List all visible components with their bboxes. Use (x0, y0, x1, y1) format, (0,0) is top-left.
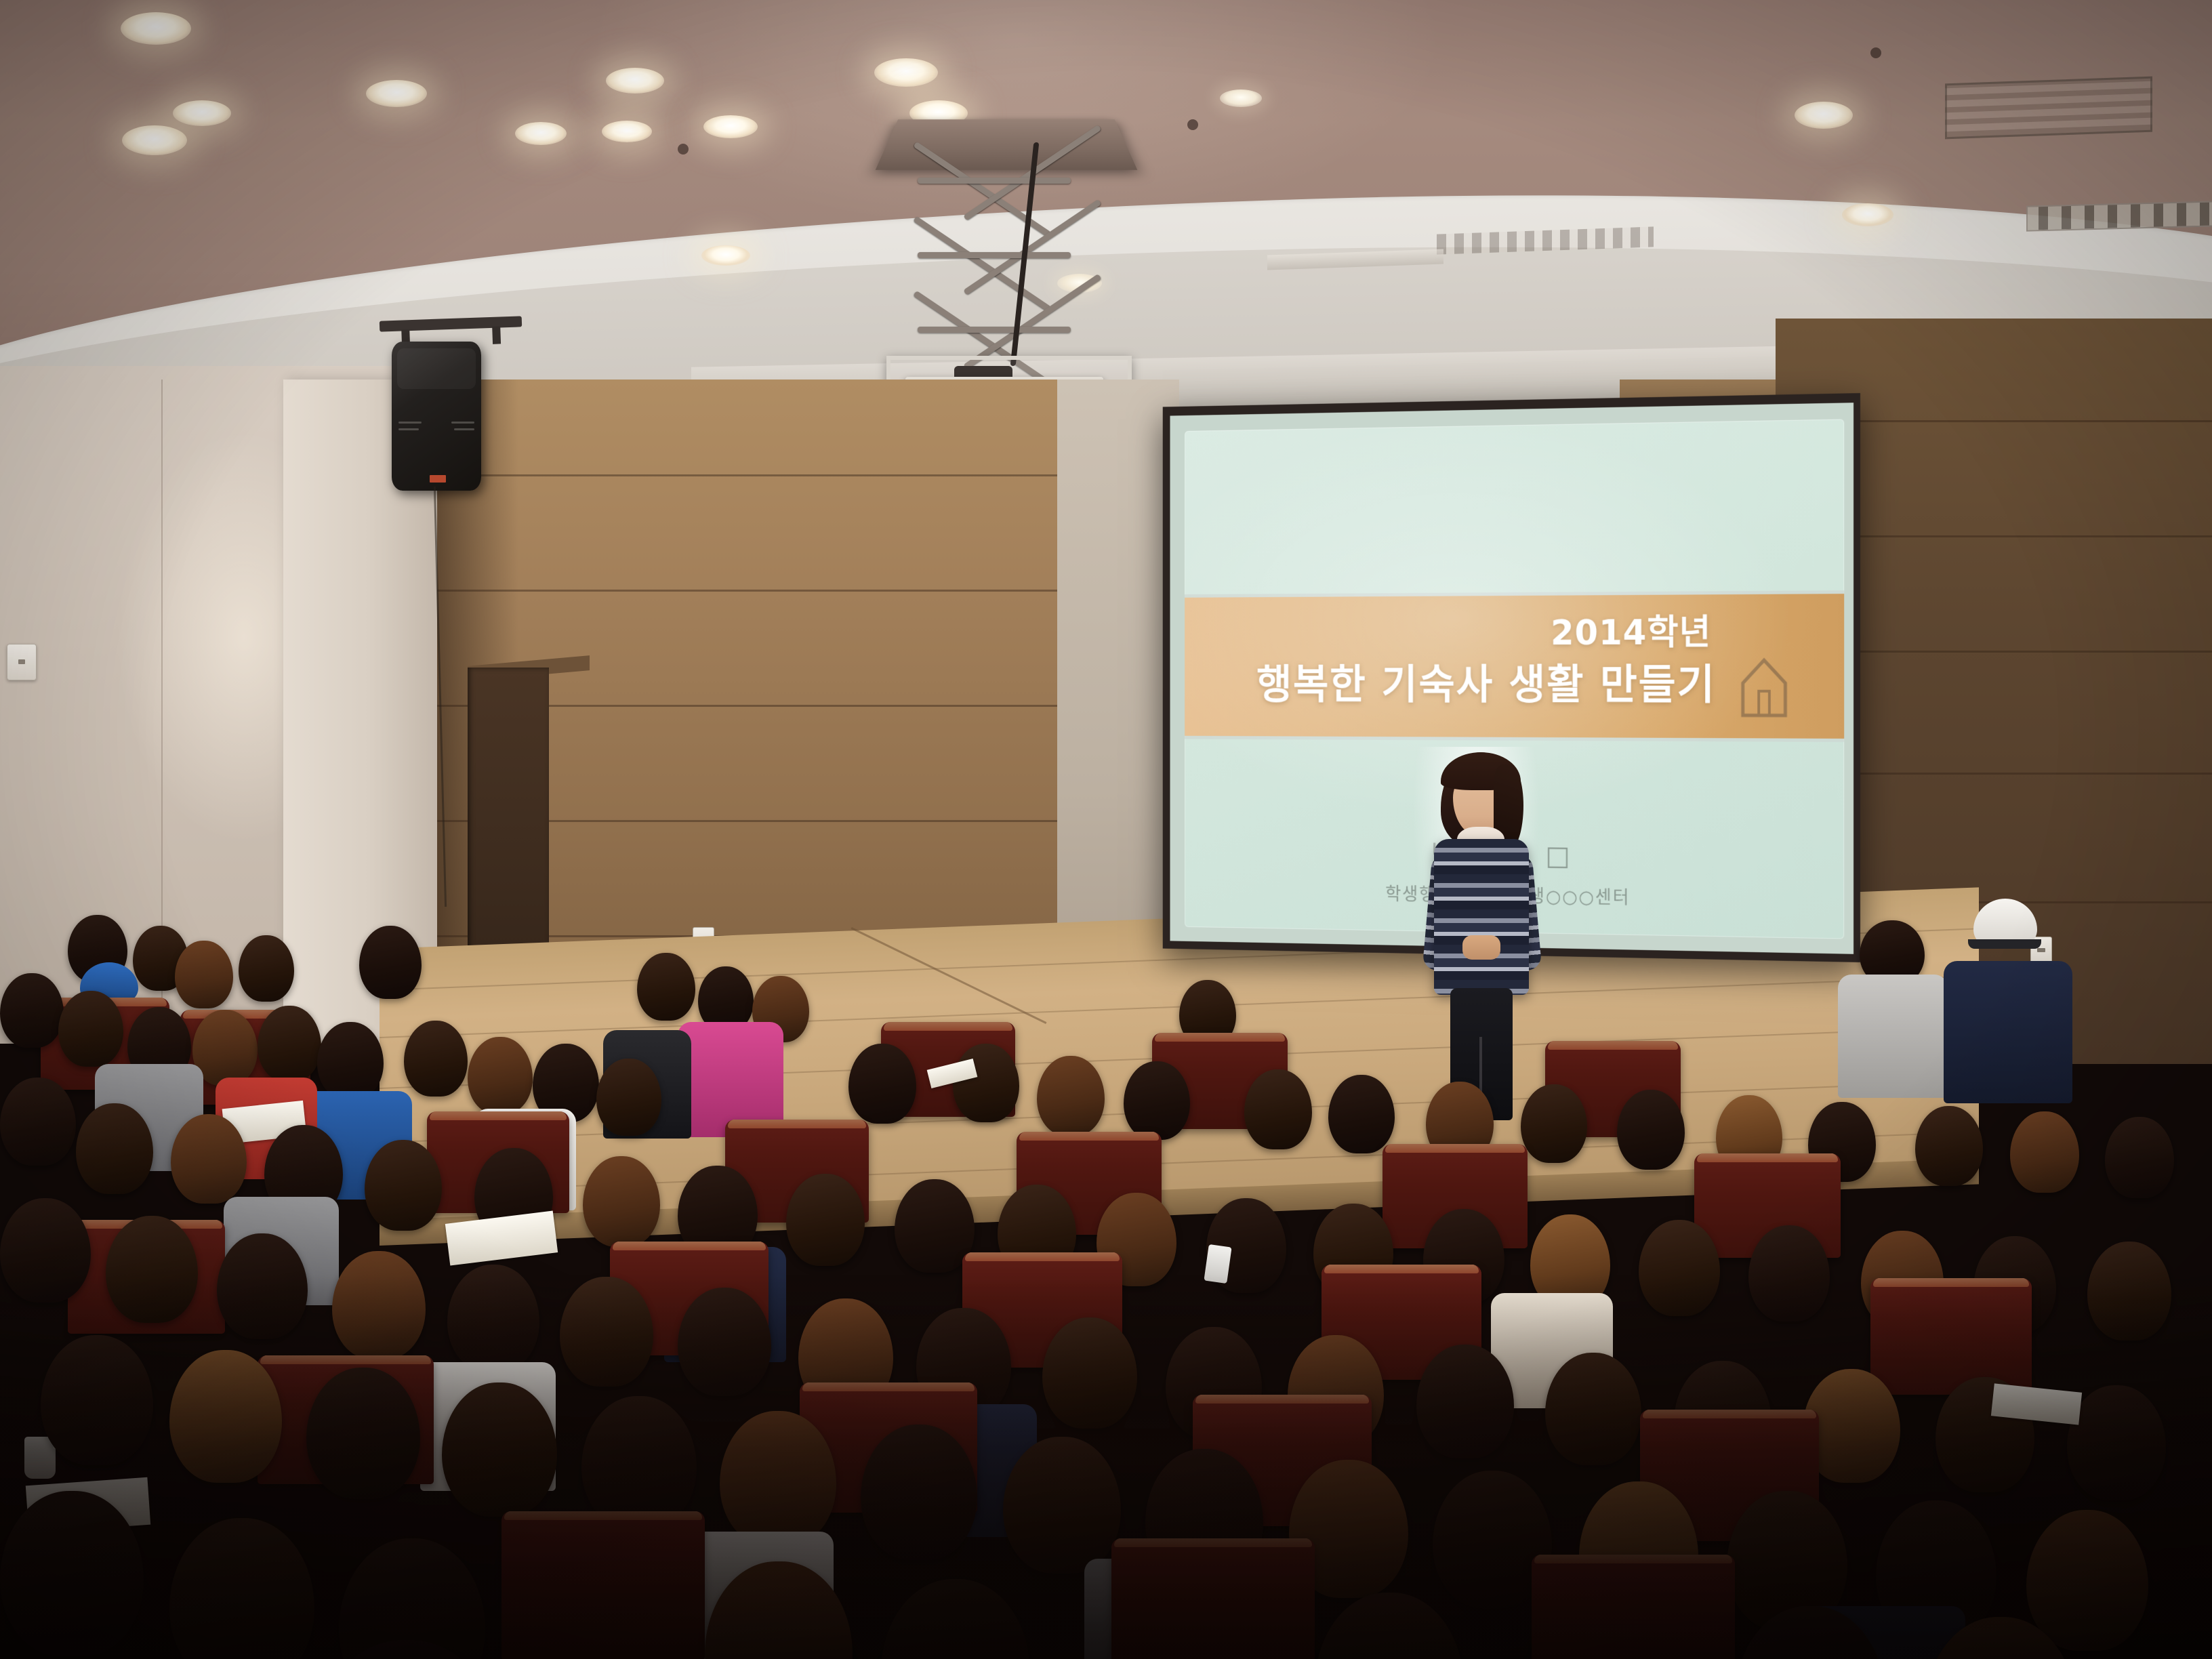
seat (1870, 1278, 2032, 1395)
jbl-speaker (392, 342, 481, 491)
ceiling-downlight (874, 58, 938, 87)
audience-head (953, 1044, 1019, 1122)
audience-head (359, 926, 422, 999)
sprinkler-head-icon (1187, 119, 1198, 130)
audience-head (442, 1382, 557, 1517)
audience-head (365, 1140, 442, 1231)
audience-head (175, 941, 233, 1008)
sprinkler-head-icon (1870, 47, 1881, 58)
audience-head (1416, 1345, 1514, 1458)
audience-head (637, 953, 695, 1021)
ceiling-downlight (1842, 203, 1893, 226)
ceiling-downlight (1795, 102, 1853, 129)
seated-audience (0, 840, 2212, 1659)
audience-head (404, 1021, 468, 1097)
audience-head (581, 1396, 697, 1529)
audience-head (169, 1518, 314, 1659)
audience-head (468, 1037, 533, 1114)
audience-head (560, 1277, 653, 1387)
wood-seam (437, 590, 1122, 592)
ceiling-downlight (1220, 89, 1262, 107)
sprinkler-head-icon (678, 144, 689, 155)
ceiling-downlight (701, 245, 750, 266)
audience-head (1124, 1061, 1190, 1140)
audience-head (2026, 1510, 2148, 1651)
audience-head (332, 1251, 426, 1359)
audience-head (217, 1233, 308, 1339)
ceiling-access-panel (1945, 77, 2152, 140)
audience-head (0, 1198, 91, 1303)
audience-head (861, 1425, 977, 1560)
audience-head (169, 1350, 282, 1483)
audience-head (848, 1044, 916, 1124)
ceiling-downlight (121, 12, 191, 45)
audience-head (1244, 1069, 1312, 1149)
ceiling-downlight (602, 121, 652, 142)
seat (1111, 1538, 1315, 1659)
seat (501, 1511, 705, 1659)
audience-head (583, 1156, 660, 1247)
ceiling-downlight (366, 80, 427, 107)
audience-head (306, 1368, 420, 1499)
cap-brim-icon (1968, 939, 2041, 949)
audience-head (1003, 1437, 1121, 1574)
ceiling-downlight (606, 68, 664, 94)
wall-control-plate (7, 644, 37, 680)
audience-head (1042, 1317, 1137, 1429)
audience-head (1748, 1225, 1830, 1322)
ceiling-downlight (173, 100, 231, 126)
audience-head (171, 1114, 247, 1204)
audience-head (0, 973, 64, 1048)
audience-head (0, 1078, 76, 1166)
audience-head (1915, 1106, 1983, 1186)
audience-head (596, 1059, 661, 1136)
audience-head (447, 1265, 539, 1372)
audience-head (1328, 1075, 1395, 1153)
audience-head (76, 1103, 153, 1194)
slide-title-line1: 2014학년 (1551, 604, 1711, 655)
audience-head (58, 991, 123, 1067)
house-icon (1740, 656, 1788, 718)
handout-paper (445, 1210, 558, 1265)
audience-head (239, 935, 294, 1002)
audience-head (720, 1411, 836, 1547)
audience-head (2010, 1111, 2079, 1193)
auditorium-photo: 2014학년 행복한 기숙사 생활 만들기 박 정 □ 학생행복지원단 학생○○… (0, 0, 2212, 1659)
seat (1532, 1555, 1735, 1659)
audience-head (258, 1006, 321, 1082)
audience-head (1545, 1353, 1641, 1465)
jbl-logo-icon (430, 475, 446, 483)
slide-title-band: 2014학년 행복한 기숙사 생활 만들기 (1185, 594, 1844, 739)
audience-head (106, 1216, 198, 1323)
audience-head (1617, 1090, 1685, 1170)
audience-head (2105, 1117, 2174, 1198)
audience-head (786, 1174, 865, 1266)
audience-head (317, 1022, 384, 1099)
ceiling-downlight (703, 115, 758, 138)
audience-head (2087, 1242, 2171, 1340)
audience-head (1639, 1220, 1720, 1316)
audience-head (0, 1491, 144, 1656)
wood-seam (437, 474, 1122, 476)
ceiling-downlight (122, 125, 187, 155)
audience-head (2067, 1385, 2166, 1500)
audience-head (678, 1288, 771, 1396)
audience-head (881, 1579, 1030, 1659)
audience-head (1315, 1593, 1464, 1659)
air-vent-icon (2026, 201, 2212, 231)
audience-head (1037, 1056, 1105, 1136)
audience-head (1521, 1084, 1587, 1163)
scissor-lift-mount (908, 136, 1078, 366)
ceiling-downlight (515, 122, 567, 145)
audience-head (41, 1335, 153, 1465)
grey-hoodie (1838, 975, 1948, 1098)
navy-jacket (1944, 961, 2072, 1103)
